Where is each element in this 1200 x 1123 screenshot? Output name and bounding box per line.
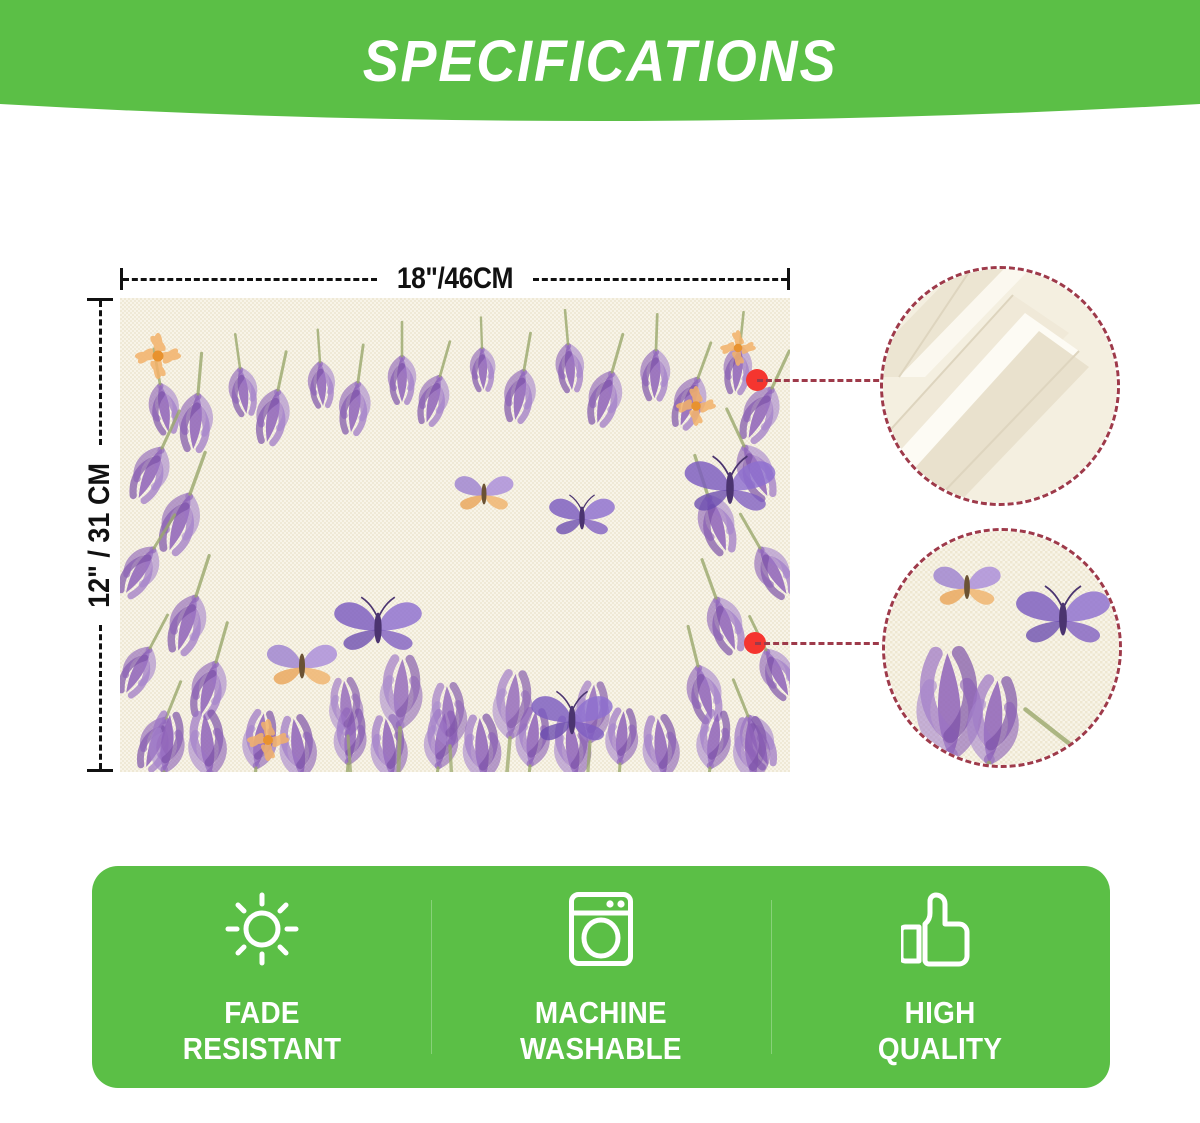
width-dimension-dash-right: [533, 278, 787, 281]
feature-high-quality-label: HIGH QUALITY: [878, 995, 1002, 1067]
thumbs-up-icon: [901, 891, 979, 967]
height-dimension-dash-top: [99, 301, 102, 445]
feature-fade-resistant: FADE RESISTANT: [92, 866, 431, 1088]
product-dimension-area: 18"/46CM 12" / 31 CM: [0, 126, 1200, 852]
feature-bar: FADE RESISTANT MACHINE WASHABLE HIGH QUA…: [92, 866, 1110, 1088]
height-dimension-label: 12" / 31 CM: [83, 454, 117, 617]
callout-fabric-texture: [882, 528, 1122, 768]
feature-machine-washable-label: MACHINE WASHABLE: [520, 995, 682, 1067]
sun-icon: [225, 891, 299, 967]
height-dimension-cap-bottom: [87, 769, 113, 772]
height-dimension-line: 12" / 31 CM: [78, 298, 122, 772]
feature-fade-resistant-label: FADE RESISTANT: [182, 995, 340, 1067]
width-dimension-cap-right: [787, 268, 790, 290]
callout-fabric-texture-image: [885, 531, 1119, 765]
page-title: SPECIFICATIONS: [42, 30, 1158, 94]
washing-machine-icon: [568, 891, 634, 967]
feature-machine-washable: MACHINE WASHABLE: [431, 866, 770, 1088]
connector-line-fold: [757, 379, 897, 382]
callout-fabric-fold: [880, 266, 1120, 506]
height-dimension-dash-bottom: [99, 625, 102, 769]
connector-line-texture: [755, 642, 897, 645]
product-image-placemat: [120, 298, 790, 772]
width-dimension-label: 18"/46CM: [386, 262, 523, 296]
width-dimension-line: 18"/46CM: [120, 268, 790, 290]
width-dimension-dash-left: [123, 278, 377, 281]
callout-fabric-fold-image: [883, 269, 1117, 503]
header-banner: SPECIFICATIONS: [0, 0, 1200, 126]
feature-high-quality: HIGH QUALITY: [771, 866, 1110, 1088]
